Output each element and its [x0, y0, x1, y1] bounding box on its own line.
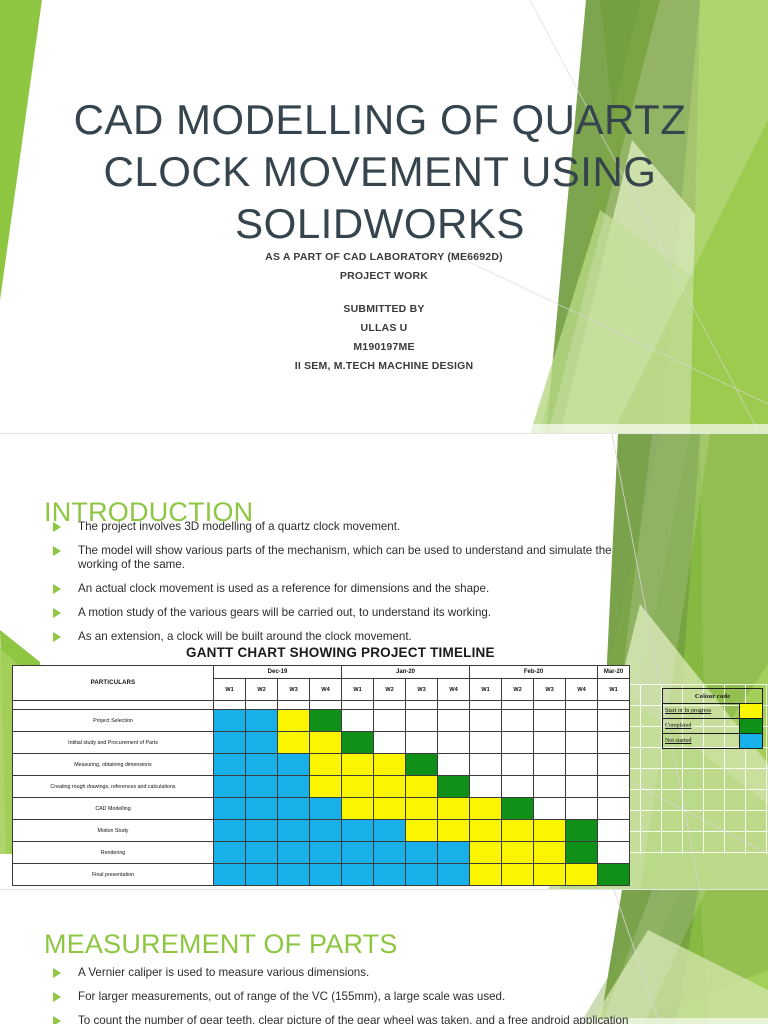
list-item: To count the number of gear teeth, clear…	[50, 1014, 650, 1024]
list-item-label: The project involves 3D modelling of a q…	[78, 520, 400, 533]
arrow-bullet-icon	[53, 584, 61, 594]
gantt-cell-not-started	[214, 732, 246, 754]
title-slide: CAD MODELLING OF QUARTZ CLOCK MOVEMENT U…	[0, 0, 768, 434]
list-item-label: As an extension, a clock will be built a…	[78, 630, 412, 643]
week-header: W1	[214, 679, 246, 701]
week-header: W1	[342, 679, 374, 701]
gantt-cell-not-started	[310, 864, 342, 886]
gantt-cell-completed	[566, 842, 598, 864]
gantt-cell-not-started	[214, 798, 246, 820]
subtitle-line-project: PROJECT WORK	[120, 267, 648, 286]
gantt-cell-empty	[534, 732, 566, 754]
subtitle-line-course: AS A PART OF CAD LABORATORY (ME6692D)	[120, 248, 648, 267]
gantt-cell-empty	[566, 754, 598, 776]
gantt-spacer-cell	[566, 701, 598, 710]
gantt-cell-not-started	[310, 842, 342, 864]
table-row: Project Selection	[13, 710, 630, 732]
gantt-colour-code-legend: Colour code Start or In progress Complet…	[662, 688, 763, 749]
column-header-particulars: PARTICULARS	[13, 666, 214, 701]
month-header-feb20: Feb-20	[470, 666, 598, 679]
gantt-cell-empty	[598, 776, 630, 798]
gantt-spacer-cell	[406, 701, 438, 710]
table-row: Rendering	[13, 842, 630, 864]
gantt-cell-start-or-in-progress	[374, 798, 406, 820]
gantt-cell-empty	[342, 710, 374, 732]
list-item: An actual clock movement is used as a re…	[50, 582, 650, 596]
gantt-cell-empty	[502, 732, 534, 754]
gantt-cell-empty	[438, 732, 470, 754]
legend-label-in-progress: Start or In progress	[663, 704, 740, 719]
gantt-cell-not-started	[310, 798, 342, 820]
gantt-cell-empty	[406, 732, 438, 754]
table-row: Final presentation	[13, 864, 630, 886]
table-row: Intitial study and Procurement of Parts	[13, 732, 630, 754]
gantt-cell-not-started	[214, 842, 246, 864]
gantt-spacer-cell	[342, 701, 374, 710]
gantt-cell-completed	[502, 798, 534, 820]
arrow-bullet-icon	[53, 632, 61, 642]
week-header: W2	[246, 679, 278, 701]
gantt-cell-start-or-in-progress	[470, 798, 502, 820]
week-header: W4	[438, 679, 470, 701]
gantt-cell-start-or-in-progress	[374, 754, 406, 776]
list-item: A motion study of the various gears will…	[50, 606, 650, 620]
gantt-cell-not-started	[374, 820, 406, 842]
gantt-spacer-cell	[278, 701, 310, 710]
gantt-cell-start-or-in-progress	[438, 798, 470, 820]
legend-title-row: Colour code	[663, 689, 763, 704]
gantt-cell-empty	[470, 732, 502, 754]
gantt-cell-not-started	[246, 798, 278, 820]
list-item-label: To count the number of gear teeth, clear…	[78, 1014, 628, 1024]
subtitle-line-program: II SEM, M.TECH MACHINE DESIGN	[120, 357, 648, 376]
title-slide-subtitle-block: AS A PART OF CAD LABORATORY (ME6692D) PR…	[120, 248, 648, 376]
legend-swatch-in-progress	[740, 704, 763, 719]
gantt-cell-not-started	[406, 864, 438, 886]
gantt-cell-start-or-in-progress	[502, 842, 534, 864]
gantt-table-head: PARTICULARS Dec-19 Jan-20 Feb-20 Mar-20 …	[13, 666, 630, 701]
legend-label-completed: Completed	[663, 719, 740, 734]
gantt-cell-empty	[438, 710, 470, 732]
gantt-task-label: Motion Study	[13, 820, 214, 842]
gantt-chart-table: PARTICULARS Dec-19 Jan-20 Feb-20 Mar-20 …	[12, 665, 630, 886]
gantt-cell-completed	[406, 754, 438, 776]
week-header: W4	[566, 679, 598, 701]
gantt-cell-not-started	[278, 798, 310, 820]
subtitle-spacer	[120, 286, 648, 300]
gantt-cell-empty	[598, 798, 630, 820]
gantt-table-body: Project SelectionIntitial study and Proc…	[13, 701, 630, 886]
gantt-spacer-cell	[470, 701, 502, 710]
gantt-cell-start-or-in-progress	[342, 798, 374, 820]
introduction-bullet-list: The project involves 3D modelling of a q…	[50, 520, 650, 654]
gantt-cell-empty	[470, 776, 502, 798]
gantt-cell-empty	[598, 820, 630, 842]
gantt-cell-completed	[342, 732, 374, 754]
gantt-cell-start-or-in-progress	[278, 710, 310, 732]
list-item-label: A Vernier caliper is used to measure var…	[78, 966, 369, 979]
gantt-cell-start-or-in-progress	[470, 842, 502, 864]
gantt-cell-not-started	[438, 864, 470, 886]
gantt-cell-empty	[502, 776, 534, 798]
week-header: W1	[598, 679, 630, 701]
arrow-bullet-icon	[53, 968, 61, 978]
week-header: W3	[534, 679, 566, 701]
gantt-cell-start-or-in-progress	[534, 842, 566, 864]
gantt-cell-empty	[566, 798, 598, 820]
gantt-cell-start-or-in-progress	[502, 864, 534, 886]
gantt-cell-start-or-in-progress	[566, 864, 598, 886]
gantt-cell-not-started	[246, 864, 278, 886]
arrow-bullet-icon	[53, 522, 61, 532]
gantt-cell-start-or-in-progress	[470, 864, 502, 886]
gantt-task-label: Intitial study and Procurement of Parts	[13, 732, 214, 754]
gantt-cell-not-started	[342, 864, 374, 886]
gantt-cell-start-or-in-progress	[406, 776, 438, 798]
table-row: Motion Study	[13, 820, 630, 842]
gantt-task-label: Final presentation	[13, 864, 214, 886]
list-item: For larger measurements, out of range of…	[50, 990, 650, 1004]
gantt-cell-completed	[438, 776, 470, 798]
gantt-cell-not-started	[278, 864, 310, 886]
gantt-spacer-cell	[13, 701, 214, 710]
arrow-bullet-icon	[53, 992, 61, 1002]
list-item: The project involves 3D modelling of a q…	[50, 520, 650, 534]
subtitle-line-roll-number: M190197ME	[120, 338, 648, 357]
gantt-cell-start-or-in-progress	[534, 820, 566, 842]
gantt-cell-not-started	[246, 732, 278, 754]
gantt-cell-not-started	[214, 754, 246, 776]
gantt-task-label: Project Selection	[13, 710, 214, 732]
list-item: The model will show various parts of the…	[50, 544, 650, 572]
gantt-cell-empty	[598, 754, 630, 776]
gantt-cell-start-or-in-progress	[470, 820, 502, 842]
arrow-bullet-icon	[53, 608, 61, 618]
list-item: As an extension, a clock will be built a…	[50, 630, 650, 644]
gantt-chart-heading: GANTT CHART SHOWING PROJECT TIMELINE	[186, 645, 586, 660]
gantt-cell-not-started	[278, 776, 310, 798]
gantt-cell-start-or-in-progress	[502, 820, 534, 842]
gantt-cell-empty	[470, 754, 502, 776]
gantt-cell-empty	[566, 732, 598, 754]
gantt-cell-not-started	[438, 842, 470, 864]
gantt-header-row-months: PARTICULARS Dec-19 Jan-20 Feb-20 Mar-20	[13, 666, 630, 679]
gantt-cell-not-started	[342, 842, 374, 864]
gantt-cell-empty	[598, 732, 630, 754]
gantt-cell-start-or-in-progress	[438, 820, 470, 842]
gantt-cell-empty	[534, 754, 566, 776]
gantt-spacer-cell	[534, 701, 566, 710]
gantt-cell-not-started	[374, 842, 406, 864]
gantt-cell-start-or-in-progress	[406, 798, 438, 820]
table-row: Creating rough drawings, references and …	[13, 776, 630, 798]
gantt-cell-not-started	[214, 864, 246, 886]
gantt-spacer-row	[13, 701, 630, 710]
arrow-bullet-icon	[53, 546, 61, 556]
gantt-cell-empty	[534, 776, 566, 798]
slide-divider	[0, 889, 768, 890]
month-header-jan20: Jan-20	[342, 666, 470, 679]
gantt-cell-empty	[438, 754, 470, 776]
gantt-cell-start-or-in-progress	[406, 820, 438, 842]
gantt-task-label: Creating rough drawings, references and …	[13, 776, 214, 798]
legend-swatch-completed	[740, 719, 763, 734]
gantt-cell-empty	[374, 732, 406, 754]
subtitle-line-submitted-by: SUBMITTED BY	[120, 300, 648, 319]
gantt-cell-empty	[598, 842, 630, 864]
gantt-spacer-cell	[246, 701, 278, 710]
legend-label-not-started: Not started	[663, 734, 740, 749]
gantt-spacer-cell	[502, 701, 534, 710]
gantt-cell-empty	[566, 710, 598, 732]
legend-row-in-progress: Start or In progress	[663, 704, 763, 719]
measurement-bullet-list: A Vernier caliper is used to measure var…	[50, 966, 650, 1024]
week-header: W4	[310, 679, 342, 701]
section-title-measurement: MEASUREMENT OF PARTS	[44, 928, 398, 960]
gantt-cell-start-or-in-progress	[310, 754, 342, 776]
gantt-spacer-cell	[374, 701, 406, 710]
gantt-cell-start-or-in-progress	[310, 732, 342, 754]
month-header-mar20: Mar-20	[598, 666, 630, 679]
table-row: CAD Modelling	[13, 798, 630, 820]
gantt-cell-not-started	[214, 710, 246, 732]
gantt-cell-not-started	[278, 820, 310, 842]
gantt-cell-empty	[566, 776, 598, 798]
list-item: A Vernier caliper is used to measure var…	[50, 966, 650, 980]
gantt-cell-start-or-in-progress	[310, 776, 342, 798]
slide-divider	[0, 433, 768, 434]
gantt-cell-empty	[470, 710, 502, 732]
gantt-cell-start-or-in-progress	[534, 864, 566, 886]
gantt-spacer-cell	[598, 701, 630, 710]
gantt-task-label: Rendering	[13, 842, 214, 864]
gantt-task-label: Measuring, obtaining dimensions	[13, 754, 214, 776]
gantt-cell-empty	[406, 710, 438, 732]
gantt-cell-start-or-in-progress	[278, 732, 310, 754]
gantt-cell-empty	[598, 710, 630, 732]
slide-deck-page: CAD MODELLING OF QUARTZ CLOCK MOVEMENT U…	[0, 0, 768, 1024]
gantt-cell-empty	[502, 710, 534, 732]
gantt-cell-not-started	[246, 842, 278, 864]
gantt-cell-start-or-in-progress	[342, 754, 374, 776]
arrow-bullet-icon	[53, 1016, 61, 1024]
list-item-label: A motion study of the various gears will…	[78, 606, 491, 619]
legend-swatch-not-started	[740, 734, 763, 749]
gantt-cell-not-started	[278, 842, 310, 864]
gantt-cell-completed	[566, 820, 598, 842]
gantt-cell-completed	[598, 864, 630, 886]
gantt-cell-not-started	[342, 820, 374, 842]
presentation-title: CAD MODELLING OF QUARTZ CLOCK MOVEMENT U…	[18, 94, 742, 250]
gantt-cell-not-started	[278, 754, 310, 776]
measurement-slide: MEASUREMENT OF PARTS A Vernier caliper i…	[0, 890, 768, 1024]
legend-title: Colour code	[663, 689, 763, 704]
list-item-label: For larger measurements, out of range of…	[78, 990, 505, 1003]
week-header: W2	[374, 679, 406, 701]
gantt-spacer-cell	[214, 701, 246, 710]
gantt-cell-empty	[534, 798, 566, 820]
gantt-spacer-cell	[310, 701, 342, 710]
week-header: W1	[470, 679, 502, 701]
gantt-cell-not-started	[374, 864, 406, 886]
gantt-cell-not-started	[246, 754, 278, 776]
gantt-cell-empty	[502, 754, 534, 776]
gantt-cell-start-or-in-progress	[374, 776, 406, 798]
week-header: W3	[278, 679, 310, 701]
list-item-label: An actual clock movement is used as a re…	[78, 582, 489, 595]
gantt-cell-empty	[374, 710, 406, 732]
subtitle-line-author: ULLAS U	[120, 319, 648, 338]
gantt-cell-not-started	[214, 776, 246, 798]
week-header: W2	[502, 679, 534, 701]
gantt-cell-not-started	[406, 842, 438, 864]
gantt-spacer-cell	[438, 701, 470, 710]
gantt-cell-not-started	[246, 710, 278, 732]
legend-row-completed: Completed	[663, 719, 763, 734]
legend-row-not-started: Not started	[663, 734, 763, 749]
table-row: Measuring, obtaining dimensions	[13, 754, 630, 776]
gantt-cell-not-started	[310, 820, 342, 842]
week-header: W3	[406, 679, 438, 701]
gantt-cell-not-started	[246, 776, 278, 798]
gantt-cell-empty	[534, 710, 566, 732]
month-header-dec19: Dec-19	[214, 666, 342, 679]
gantt-cell-start-or-in-progress	[342, 776, 374, 798]
gantt-cell-not-started	[214, 820, 246, 842]
gantt-task-label: CAD Modelling	[13, 798, 214, 820]
list-item-label: The model will show various parts of the…	[78, 544, 612, 571]
gantt-cell-not-started	[246, 820, 278, 842]
gantt-cell-completed	[310, 710, 342, 732]
